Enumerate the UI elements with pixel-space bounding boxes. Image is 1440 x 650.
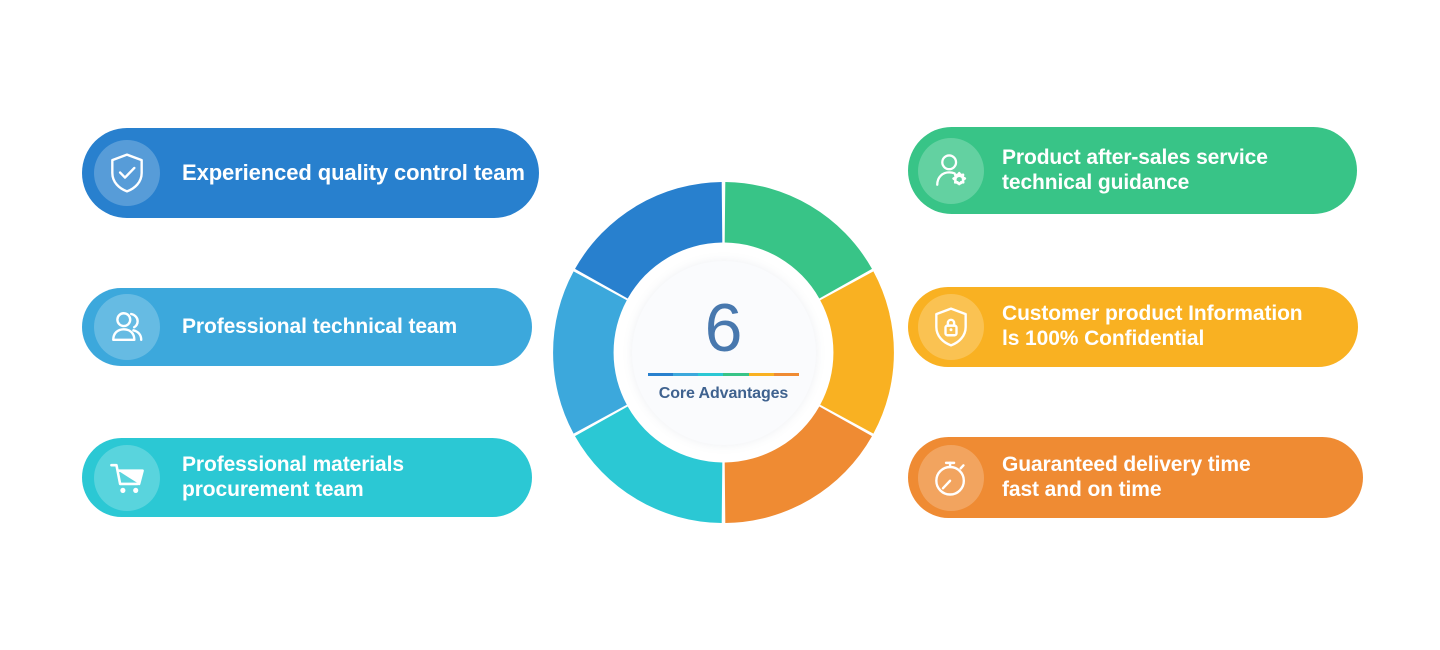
advantage-pill-confidentiality[interactable]: Customer product Information ls 100% Con… <box>908 287 1358 367</box>
advantage-pill-label: Experienced quality control team <box>182 160 525 186</box>
advantage-pill-technical-team[interactable]: Professional technical team <box>82 288 532 366</box>
user-gear-icon <box>918 138 984 204</box>
shield-check-icon <box>94 140 160 206</box>
advantage-pill-after-sales-service[interactable]: Product after-sales service technical gu… <box>908 127 1357 214</box>
donut-segment-amber <box>820 271 894 433</box>
core-advantages-infographic: Experienced quality control team Profess… <box>0 0 1440 650</box>
users-team-icon <box>94 294 160 360</box>
shopping-cart-icon <box>94 445 160 511</box>
advantage-pill-label: Customer product Information ls 100% Con… <box>1002 302 1303 352</box>
advantage-pill-materials-procurement[interactable]: Professional materials procurement team <box>82 438 532 517</box>
stopwatch-icon <box>918 445 984 511</box>
multicolor-divider <box>648 373 800 376</box>
advantage-pill-quality-control[interactable]: Experienced quality control team <box>82 128 539 218</box>
donut-segment-light-blue <box>553 271 627 433</box>
advantage-pill-delivery-time[interactable]: Guaranteed delivery time fast and on tim… <box>908 437 1363 518</box>
donut-caption: Core Advantages <box>659 385 789 403</box>
advantage-pill-label: Professional technical team <box>182 315 457 340</box>
advantage-pill-label: Product after-sales service technical gu… <box>1002 146 1268 196</box>
advantage-pill-label: Guaranteed delivery time fast and on tim… <box>1002 453 1251 503</box>
advantages-count: 6 <box>705 296 743 361</box>
core-advantages-donut-chart: 6 Core Advantages <box>553 182 894 523</box>
shield-lock-icon <box>918 294 984 360</box>
advantage-pill-label: Professional materials procurement team <box>182 453 404 503</box>
donut-center-label: 6 Core Advantages <box>632 261 816 445</box>
